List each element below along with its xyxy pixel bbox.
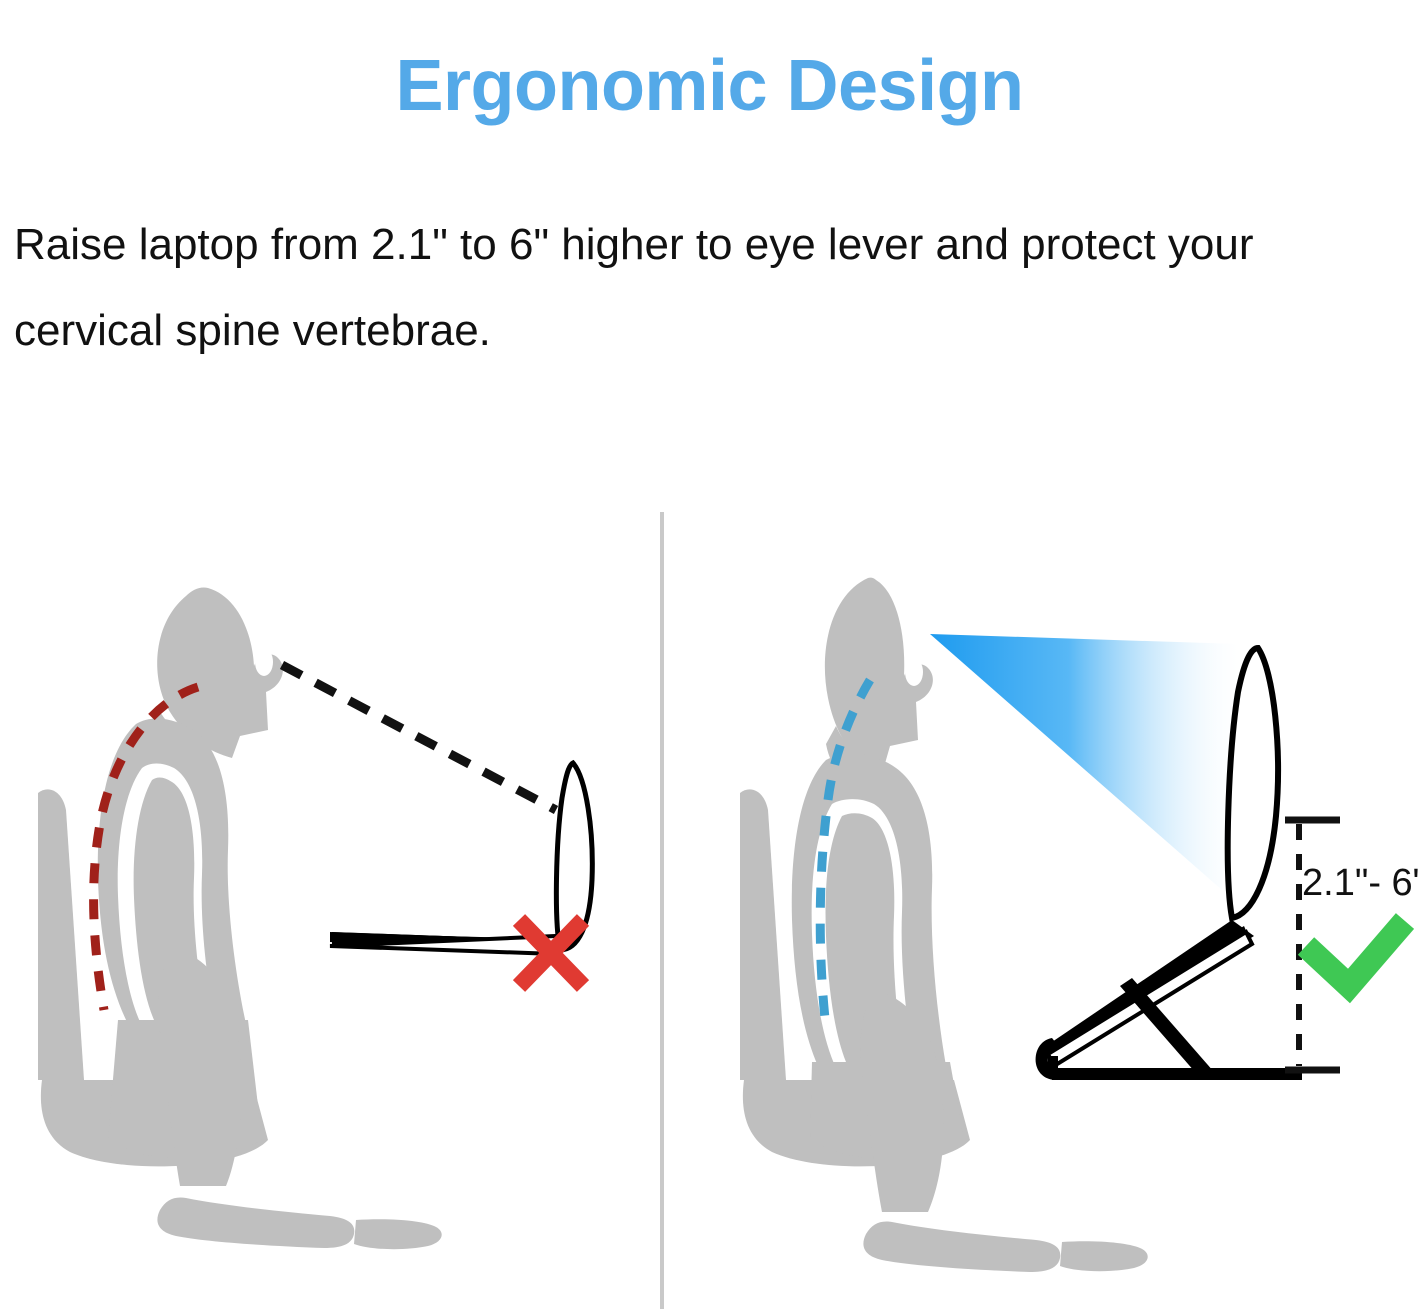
check-icon bbox=[1306, 921, 1405, 986]
sight-line-bad bbox=[282, 665, 556, 810]
height-measurement-label: 2.1"- 6" bbox=[1302, 862, 1419, 905]
infographic-page: Ergonomic Design Raise laptop from 2.1" … bbox=[0, 0, 1419, 1309]
page-subtitle: Raise laptop from 2.1" to 6" higher to e… bbox=[14, 202, 1404, 374]
left-panel-illustration bbox=[24, 587, 620, 1309]
page-title: Ergonomic Design bbox=[0, 50, 1419, 122]
vision-cone bbox=[930, 634, 1238, 890]
right-panel-illustration bbox=[726, 578, 1405, 1309]
illustration-area bbox=[0, 380, 1419, 1309]
laptop-left bbox=[330, 763, 592, 954]
